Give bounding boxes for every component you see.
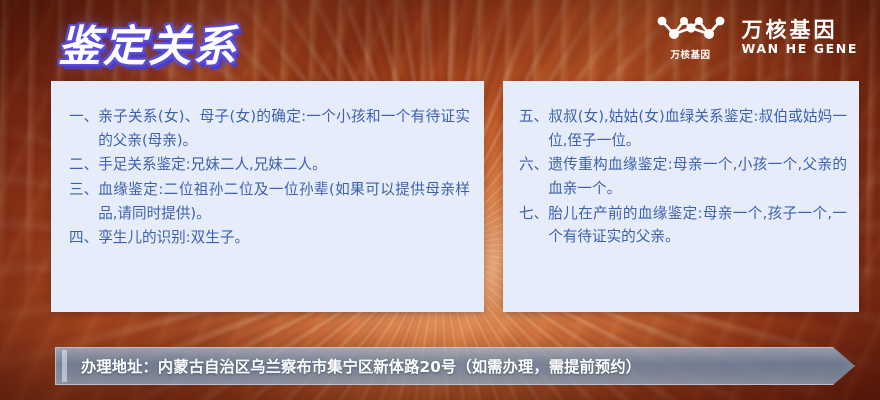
- list-item-number: 六、: [519, 153, 548, 177]
- list-item-number: 五、: [519, 105, 548, 129]
- address-banner: 办理地址：内蒙古自治区乌兰察布市集宁区新体路20号（如需办理，需提前预约）: [55, 347, 855, 385]
- poster-canvas: 鉴定关系: [0, 0, 880, 400]
- list-item: 二、 手足关系鉴定:兄妹二人,兄妹二人。: [69, 153, 470, 177]
- list-item-number: 三、: [69, 178, 98, 202]
- list-item: 四、 孪生儿的识别:双生子。: [69, 226, 470, 250]
- panel-left: 一、 亲子关系(女)、母子(女)的确定:一个小孩和一个有待证实的父亲(母亲)。 …: [51, 81, 484, 312]
- brand-mark-text: 万核基因: [671, 47, 711, 61]
- brand-mark: 万核基因: [654, 14, 728, 61]
- list-item-number: 一、: [69, 105, 98, 129]
- list-item: 六、 遗传重构血缘鉴定:母亲一个,小孩一个,父亲的血亲一个。: [519, 153, 847, 200]
- list-item-text: 胎儿在产前的血缘鉴定:母亲一个,孩子一个,一个有待证实的父亲。: [548, 202, 847, 249]
- list-item-number: 二、: [69, 153, 98, 177]
- address-accent-stripe: [62, 350, 67, 382]
- brand-lockup: 万核基因 万核基因 WAN HE GENE: [654, 14, 858, 61]
- address-text: 办理地址：内蒙古自治区乌兰察布市集宁区新体路20号（如需办理，需提前预约）: [81, 347, 829, 385]
- list-item-text: 亲子关系(女)、母子(女)的确定:一个小孩和一个有待证实的父亲(母亲)。: [98, 105, 470, 152]
- page-title: 鉴定关系: [58, 12, 238, 74]
- molecule-dna-icon: [654, 14, 728, 44]
- list-item: 七、 胎儿在产前的血缘鉴定:母亲一个,孩子一个,一个有待证实的父亲。: [519, 202, 847, 249]
- panel-right: 五、 叔叔(女),姑姑(女)血绿关系鉴定:叔伯或姑妈一位,侄子一位。 六、 遗传…: [503, 81, 859, 312]
- list-item-text: 叔叔(女),姑姑(女)血绿关系鉴定:叔伯或姑妈一位,侄子一位。: [548, 105, 847, 152]
- list-item-text: 手足关系鉴定:兄妹二人,兄妹二人。: [98, 153, 470, 177]
- panel-left-content: 一、 亲子关系(女)、母子(女)的确定:一个小孩和一个有待证实的父亲(母亲)。 …: [51, 81, 484, 250]
- list-item-text: 遗传重构血缘鉴定:母亲一个,小孩一个,父亲的血亲一个。: [548, 153, 847, 200]
- panel-right-content: 五、 叔叔(女),姑姑(女)血绿关系鉴定:叔伯或姑妈一位,侄子一位。 六、 遗传…: [503, 81, 859, 249]
- header: 鉴定关系: [0, 0, 880, 80]
- brand-name-cn: 万核基因: [742, 19, 838, 43]
- list-item: 一、 亲子关系(女)、母子(女)的确定:一个小孩和一个有待证实的父亲(母亲)。: [69, 105, 470, 152]
- list-item: 五、 叔叔(女),姑姑(女)血绿关系鉴定:叔伯或姑妈一位,侄子一位。: [519, 105, 847, 152]
- list-item: 三、 血缘鉴定:二位祖孙二位及一位孙辈(如果可以提供母亲样品,请同时提供)。: [69, 178, 470, 225]
- list-item-text: 血缘鉴定:二位祖孙二位及一位孙辈(如果可以提供母亲样品,请同时提供)。: [98, 178, 470, 225]
- brand-words: 万核基因 WAN HE GENE: [742, 19, 858, 57]
- brand-name-en: WAN HE GENE: [742, 42, 858, 56]
- list-item-text: 孪生儿的识别:双生子。: [98, 226, 470, 250]
- list-item-number: 七、: [519, 202, 548, 226]
- list-item-number: 四、: [69, 226, 98, 250]
